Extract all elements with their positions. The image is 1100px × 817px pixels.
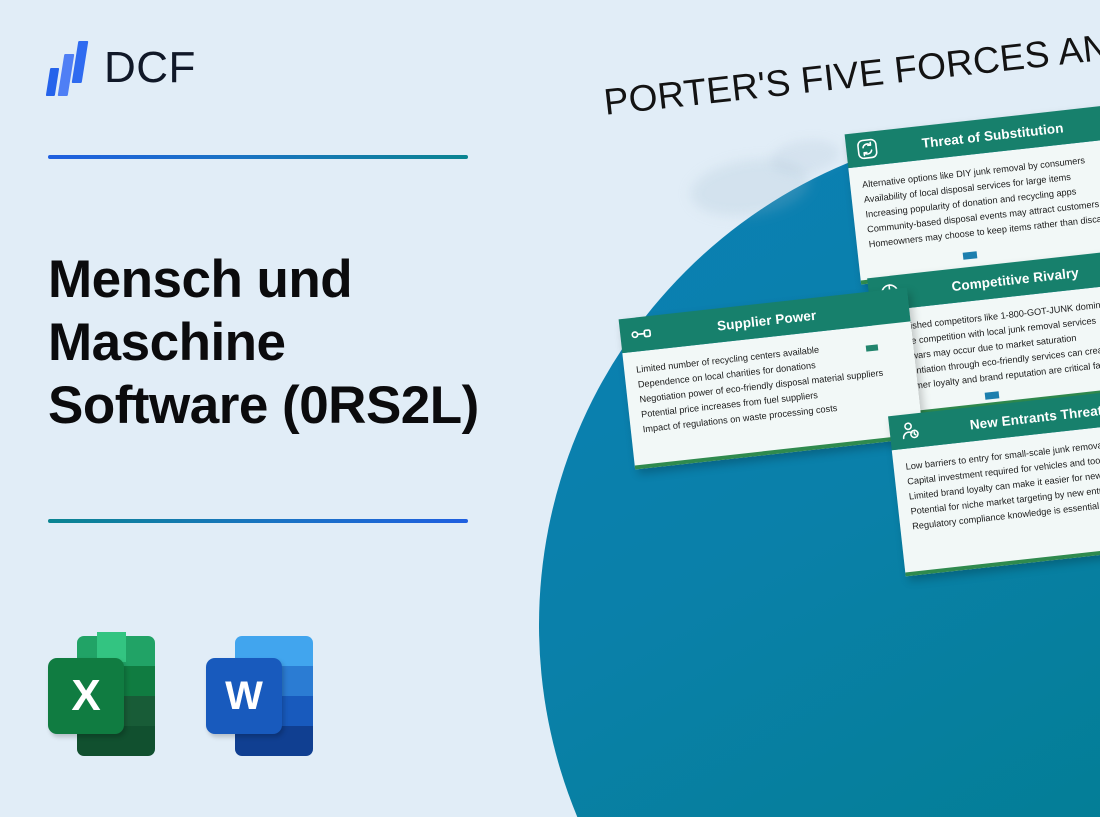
export-format-icons: X W [48,632,316,757]
brand-logo[interactable]: DCF [46,40,196,96]
divider-top [48,155,468,159]
refresh-sync-icon [855,137,879,161]
analysis-headline: PORTER'S FIVE FORCES ANALYSIS [602,12,1100,124]
person-user-icon [899,419,923,443]
card-points-list: Low barriers to entry for small-scale ju… [905,431,1100,534]
force-card-supplier-power[interactable]: Supplier Power Limited number of recycli… [619,288,924,470]
slide-canvas: PORTER'S FIVE FORCES ANALYSIS DCF Mensch… [0,0,1100,817]
brand-name: DCF [104,43,196,93]
left-panel: DCF Mensch und Maschine Software (0RS2L)… [0,0,540,817]
excel-icon[interactable]: X [48,632,158,757]
force-card-new-entrants-threat[interactable]: New Entrants Threat Low barriers to entr… [888,385,1100,577]
word-letter-tile: W [206,658,282,734]
page-title: Mensch und Maschine Software (0RS2L) [48,248,518,437]
link-chain-icon [629,322,653,346]
divider-bottom [48,519,468,523]
card-points-list: Alternative options like DIY junk remova… [861,149,1100,252]
excel-letter-tile: X [48,658,124,734]
three-bars-logo-icon [46,40,90,96]
word-icon[interactable]: W [206,632,316,757]
